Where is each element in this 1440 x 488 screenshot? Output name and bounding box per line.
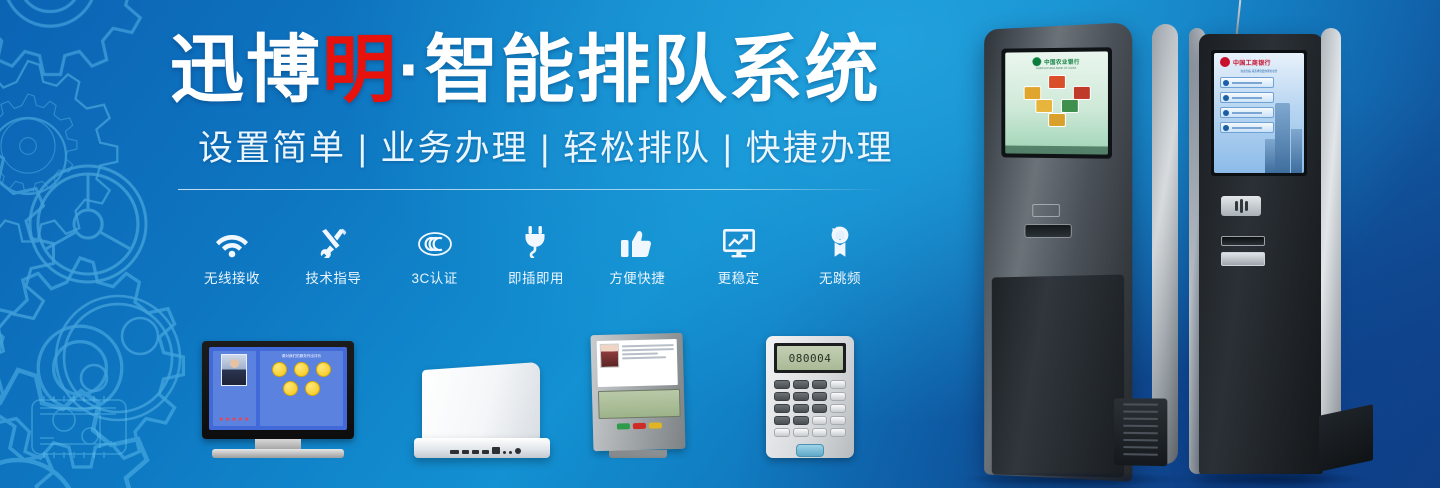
key-g[interactable] (812, 428, 828, 437)
kiosk-abc-menu-item-5[interactable] (1048, 113, 1066, 127)
evaluation-panel: 请对我们的服务作出评价 (260, 351, 343, 426)
staff-id-card (597, 339, 678, 387)
feature-label: 无线接收 (204, 267, 260, 287)
key-8[interactable] (793, 404, 809, 413)
key-f[interactable] (793, 428, 809, 437)
feature-label: 方便快捷 (609, 267, 665, 287)
keypad-lcd-value: 080004 (789, 352, 832, 365)
kiosk-abc-ticket-slot[interactable] (1024, 224, 1071, 238)
button-unsatisfied[interactable] (632, 423, 645, 429)
evaluation-caption: 请对我们的服务作出评价 (262, 354, 341, 359)
icbc-logo-icon (1220, 57, 1230, 67)
product-desktop-evaluator (586, 334, 690, 458)
circuit-board-decoration (24, 392, 134, 462)
rating-stars: ★★★★★ (218, 416, 250, 423)
kiosk-abc-display: 中国农业银行 AGRICULTURAL BANK OF CHINA (1005, 51, 1108, 154)
kiosk-abc-lower-body (992, 274, 1124, 477)
key-c[interactable] (830, 404, 846, 413)
port-usb-3 (482, 450, 489, 454)
key-d[interactable] (830, 416, 846, 425)
port-usb-1 (462, 450, 469, 454)
key-1[interactable] (774, 380, 790, 389)
evaluator-foot (609, 450, 667, 458)
title-part-4: 智能排队系统 (425, 28, 881, 111)
kiosk-abc-display-footer (1005, 146, 1108, 155)
kiosk-abc-menu-item-2[interactable] (1073, 86, 1091, 100)
kiosk-icbc-screen[interactable]: 中国工商银行 欢迎光临 请选择您要办理的业务 (1211, 50, 1307, 176)
kiosk-icbc-card-reader[interactable] (1221, 196, 1261, 216)
key-star[interactable] (774, 416, 790, 425)
feature-item-tech-support: 技术指导 (287, 224, 379, 287)
evaluator-buttons (599, 422, 679, 430)
emoji-options (262, 362, 341, 396)
kiosk-icbc-menu-item-0[interactable] (1220, 77, 1274, 88)
emoji-satisfied (294, 362, 309, 377)
product-host-controller (414, 366, 550, 458)
host-panel (422, 362, 540, 448)
kiosk-icbc-bank-header: 中国工商银行 (1214, 53, 1304, 67)
title-part-separator: · (398, 28, 425, 111)
keypad-lcd: 080004 (774, 343, 846, 373)
emoji-angry (305, 381, 320, 396)
feature-label: 即插即用 (508, 267, 564, 287)
key-e[interactable] (774, 428, 790, 437)
kiosk-icbc-ticket-slot[interactable] (1221, 236, 1265, 246)
staff-photo (221, 354, 247, 386)
feature-item-convenient: 方便快捷 (591, 224, 683, 287)
key-6[interactable] (812, 392, 828, 401)
feature-item-plug-and-play: 即插即用 (490, 224, 582, 287)
port-row (450, 447, 521, 454)
kiosk-abc-vent-panel (1114, 398, 1167, 466)
key-7[interactable] (774, 404, 790, 413)
3c-certification-icon (417, 224, 453, 258)
skyscraper-graphic (1262, 99, 1302, 173)
feature-item-stable: 更稳定 (693, 224, 785, 287)
port-audio-1 (503, 451, 506, 454)
key-3[interactable] (812, 380, 828, 389)
keypad-keys (774, 380, 846, 437)
kiosk-icbc-tagline: 欢迎光临 请选择您要办理的业务 (1214, 69, 1304, 73)
staff-card-text (622, 342, 675, 383)
monitor-base (212, 449, 344, 458)
power-plug-icon (523, 224, 549, 258)
queue-kiosk-abc: 中国农业银行 AGRICULTURAL BANK OF CHINA (960, 18, 1170, 488)
feature-label: 更稳定 (718, 267, 760, 287)
kiosk-abc-shadow (960, 472, 1190, 486)
key-hash[interactable] (812, 416, 828, 425)
queue-kiosk-icbc: 中国工商银行 欢迎光临 请选择您要办理的业务 (1185, 0, 1355, 488)
emoji-neutral (316, 362, 331, 377)
kiosk-icbc-bank-name: 中国工商银行 (1233, 58, 1271, 67)
abc-logo-icon (1032, 57, 1041, 66)
kiosk-icbc-right-rail (1321, 28, 1341, 468)
kiosk-abc-menu-item-0[interactable] (1048, 75, 1066, 89)
key-b[interactable] (830, 392, 846, 401)
key-4[interactable] (774, 392, 790, 401)
emoji-unsatisfied (283, 381, 298, 396)
monitor-stand (255, 439, 301, 449)
feature-label: 无跳频 (819, 267, 861, 287)
kiosk-abc-bank-header: 中国农业银行 (1032, 57, 1079, 66)
feature-item-no-freq-hop: 无跳频 (794, 224, 886, 287)
evaluator-lcd (598, 389, 681, 419)
evaluator-body (590, 333, 685, 451)
staff-info-panel: ★★★★★ (213, 351, 256, 426)
kiosk-abc-menu-item-1[interactable] (1024, 86, 1042, 100)
product-evaluation-monitor: ★★★★★ 请对我们的服务作出评价 (202, 341, 354, 458)
feature-item-3c: 3C认证 (389, 224, 481, 287)
kiosk-abc-menu-item-3[interactable] (1035, 99, 1053, 113)
feature-item-wireless: 无线接收 (186, 224, 278, 287)
kiosk-abc-tagline: AGRICULTURAL BANK OF CHINA (1036, 67, 1076, 70)
monitor-chart-icon (723, 224, 755, 258)
page-title: 迅博明·智能排队系统 (170, 30, 900, 110)
wifi-icon (216, 224, 248, 258)
feature-list: 无线接收 技术指导 3C认证 (186, 224, 886, 287)
feature-label: 3C认证 (412, 267, 458, 287)
keypad-body: 080004 (766, 336, 854, 458)
kiosk-abc-menu-item-4[interactable] (1061, 99, 1079, 113)
key-2[interactable] (793, 380, 809, 389)
port-rj45 (492, 447, 500, 454)
promo-banner: 迅博明·智能排队系统 设置简单 | 业务办理 | 轻松排队 | 快捷办理 无线接… (0, 0, 1440, 488)
port-usb-2 (472, 450, 479, 454)
kiosk-abc-printer-label-icon (1032, 204, 1060, 217)
page-subtitle: 设置简单 | 业务办理 | 轻松排队 | 快捷办理 (198, 120, 900, 171)
product-caller-keypad: 080004 (766, 336, 862, 458)
key-5[interactable] (793, 392, 809, 401)
key-0[interactable] (793, 416, 809, 425)
kiosk-abc-menu-diamond (1020, 75, 1093, 127)
key-9[interactable] (812, 404, 828, 413)
kiosk-abc-screen[interactable]: 中国农业银行 AGRICULTURAL BANK OF CHINA (1001, 47, 1112, 158)
button-neutral[interactable] (648, 422, 661, 428)
port-audio-2 (509, 451, 512, 454)
monitor-screen: ★★★★★ 请对我们的服务作出评价 (209, 347, 347, 430)
key-call-next[interactable] (796, 444, 824, 457)
kiosk-abc-bank-name: 中国农业银行 (1044, 57, 1080, 65)
divider-rule (178, 189, 884, 190)
monitor-frame: ★★★★★ 请对我们的服务作出评价 (202, 341, 354, 439)
kiosk-icbc-base-tray (1319, 404, 1373, 471)
kiosk-icbc-brand-plate (1221, 252, 1265, 266)
port-lan (450, 450, 459, 454)
kiosk-icbc-display: 中国工商银行 欢迎光临 请选择您要办理的业务 (1214, 53, 1304, 173)
emoji-very-satisfied (272, 362, 287, 377)
port-power (515, 448, 521, 454)
product-gallery: ★★★★★ 请对我们的服务作出评价 (196, 318, 896, 458)
headline-block: 迅博明·智能排队系统 设置简单 | 业务办理 | 轻松排队 | 快捷办理 (170, 30, 900, 190)
thumbs-up-icon (621, 224, 653, 258)
button-satisfied[interactable] (616, 423, 629, 429)
key-a[interactable] (830, 380, 846, 389)
title-part-highlight: 明 (322, 28, 398, 111)
key-h[interactable] (830, 428, 846, 437)
tools-icon (318, 224, 348, 258)
medal-ribbon-icon (827, 224, 853, 258)
title-part-1: 迅博 (170, 28, 322, 111)
kiosk-icbc-shadow (1180, 472, 1370, 486)
feature-label: 技术指导 (305, 267, 361, 287)
staff-card-photo (600, 343, 620, 367)
host-base (414, 438, 550, 458)
